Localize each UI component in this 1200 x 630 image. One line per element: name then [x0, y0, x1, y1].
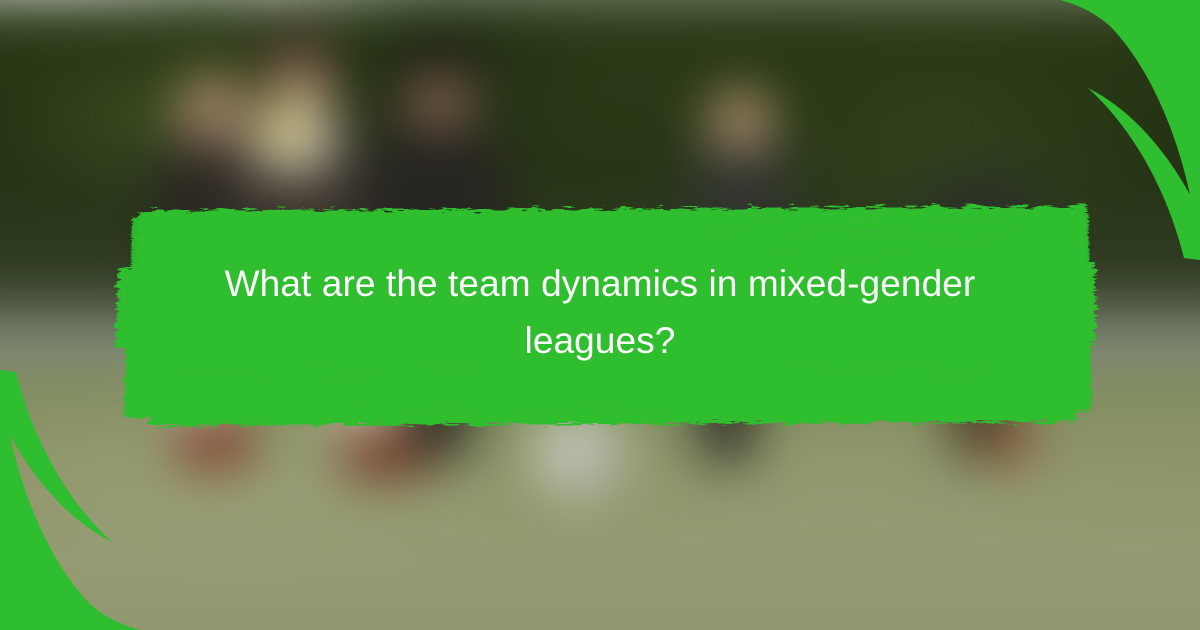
- soccer-ball: [570, 445, 600, 471]
- field-cone: [995, 425, 1035, 459]
- player-figure: [262, 108, 306, 148]
- headline-banner: What are the team dynamics in mixed-gend…: [0, 196, 1200, 428]
- page-title: What are the team dynamics in mixed-gend…: [160, 196, 1040, 428]
- share-card-canvas: What are the team dynamics in mixed-gend…: [0, 0, 1200, 630]
